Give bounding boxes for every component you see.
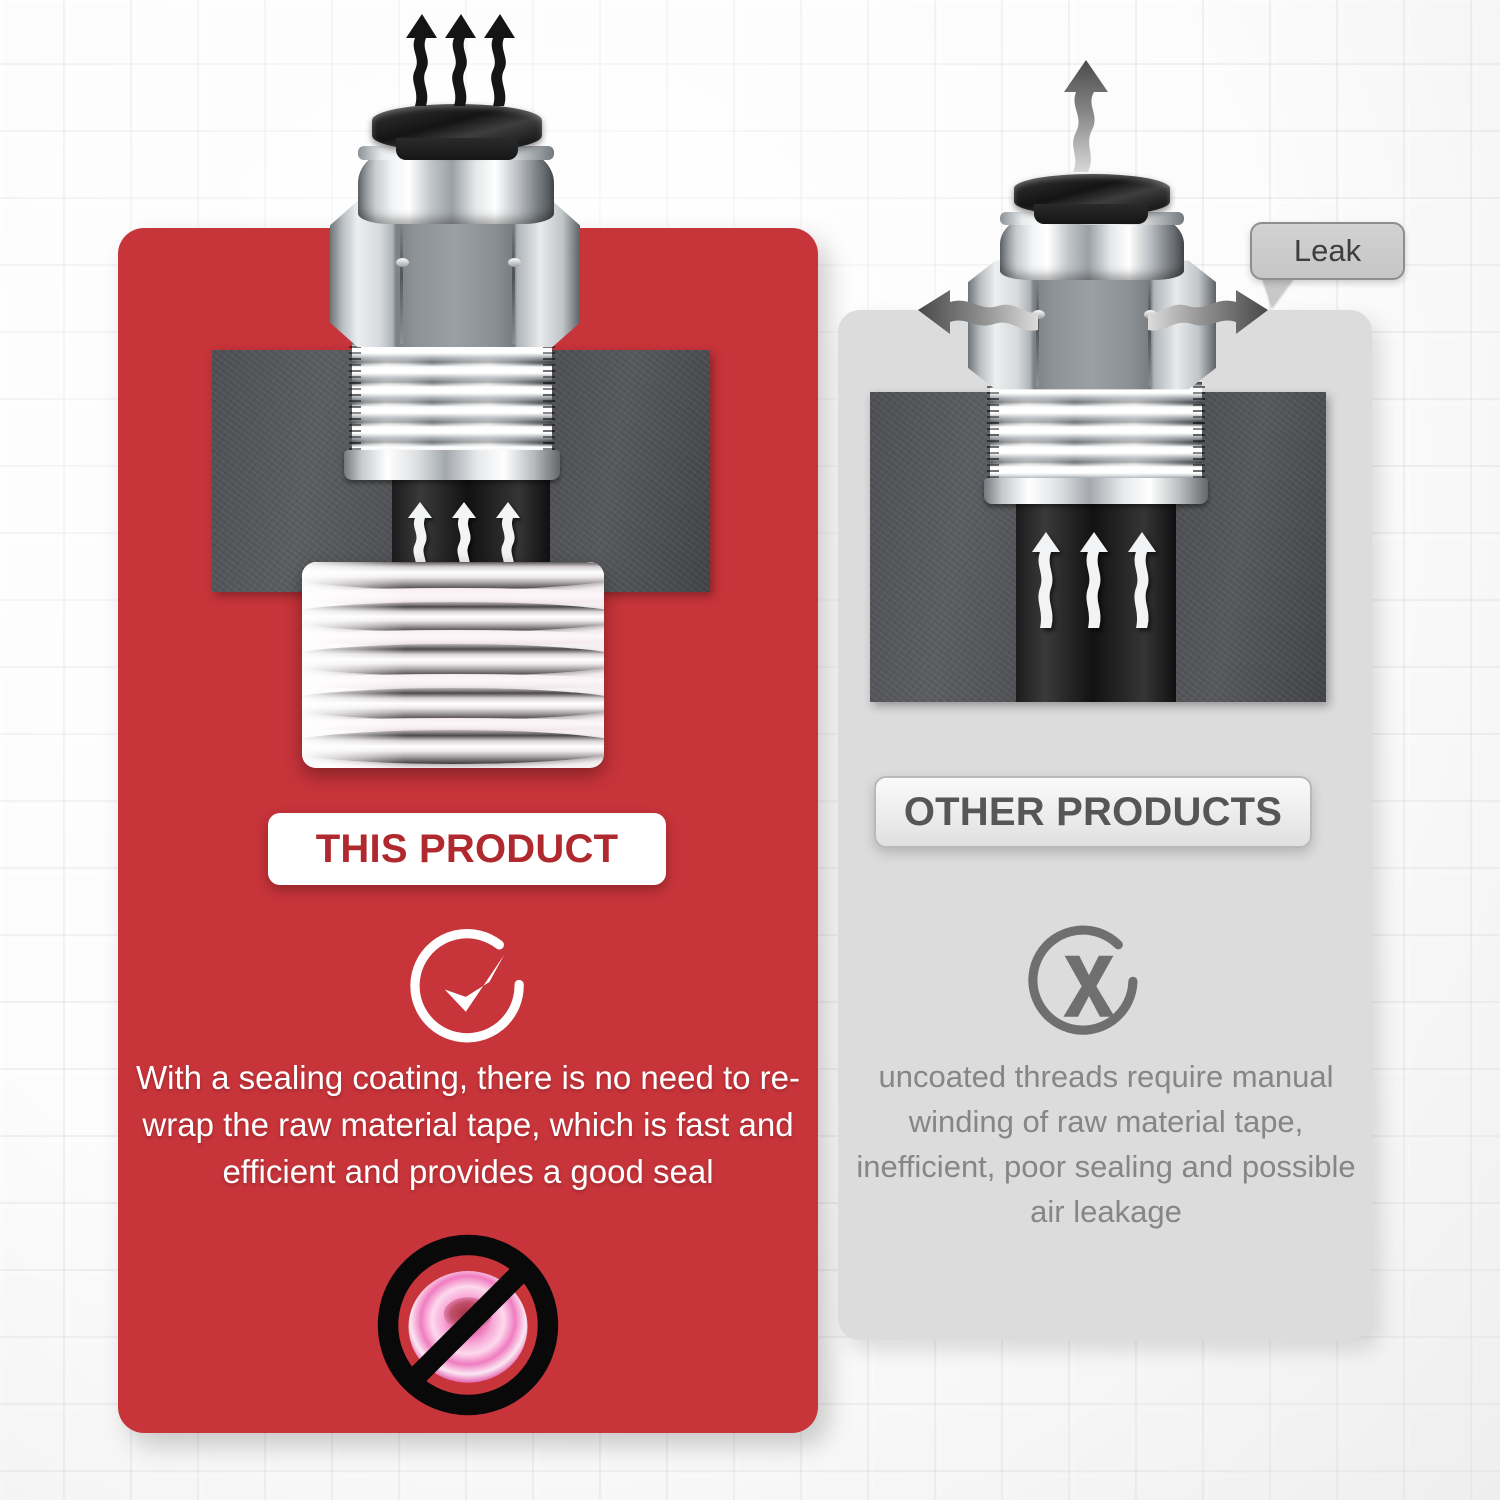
other-products-badge-label: OTHER PRODUCTS bbox=[904, 790, 1282, 835]
other-products-description: uncoated threads require manual winding … bbox=[848, 1055, 1364, 1235]
thread-flange-left bbox=[344, 450, 560, 480]
leak-arrow-up bbox=[1056, 60, 1126, 176]
leak-arrow-left bbox=[918, 290, 1038, 368]
cap-skirt-right bbox=[1034, 204, 1148, 224]
other-products-badge: OTHER PRODUCTS bbox=[874, 776, 1312, 848]
airflow-arrows-top-left bbox=[404, 14, 522, 118]
no-ptfe-tape-icon bbox=[375, 1232, 561, 1418]
coated-thread-macro-inset bbox=[302, 562, 604, 768]
leak-arrow-right bbox=[1148, 290, 1268, 368]
check-circle-icon bbox=[410, 925, 534, 1049]
airflow-arrows-pipe-right bbox=[1024, 528, 1170, 678]
this-product-badge: THIS PRODUCT bbox=[268, 813, 666, 885]
this-product-badge-label: THIS PRODUCT bbox=[316, 827, 618, 872]
this-product-description: With a sealing coating, there is no need… bbox=[128, 1055, 808, 1196]
hex-edge-2-left bbox=[512, 206, 515, 344]
leak-callout-tail bbox=[1262, 277, 1294, 307]
leak-callout: Leak bbox=[1250, 222, 1405, 280]
leak-callout-label: Leak bbox=[1294, 233, 1361, 269]
hex-nib-1-left bbox=[396, 258, 409, 267]
hex-nib-2-left bbox=[508, 258, 521, 267]
hex-edge-1-left bbox=[400, 206, 403, 344]
x-circle-icon bbox=[1028, 924, 1150, 1046]
thread-flange-right bbox=[984, 478, 1208, 504]
cap-skirt-left bbox=[396, 138, 518, 160]
